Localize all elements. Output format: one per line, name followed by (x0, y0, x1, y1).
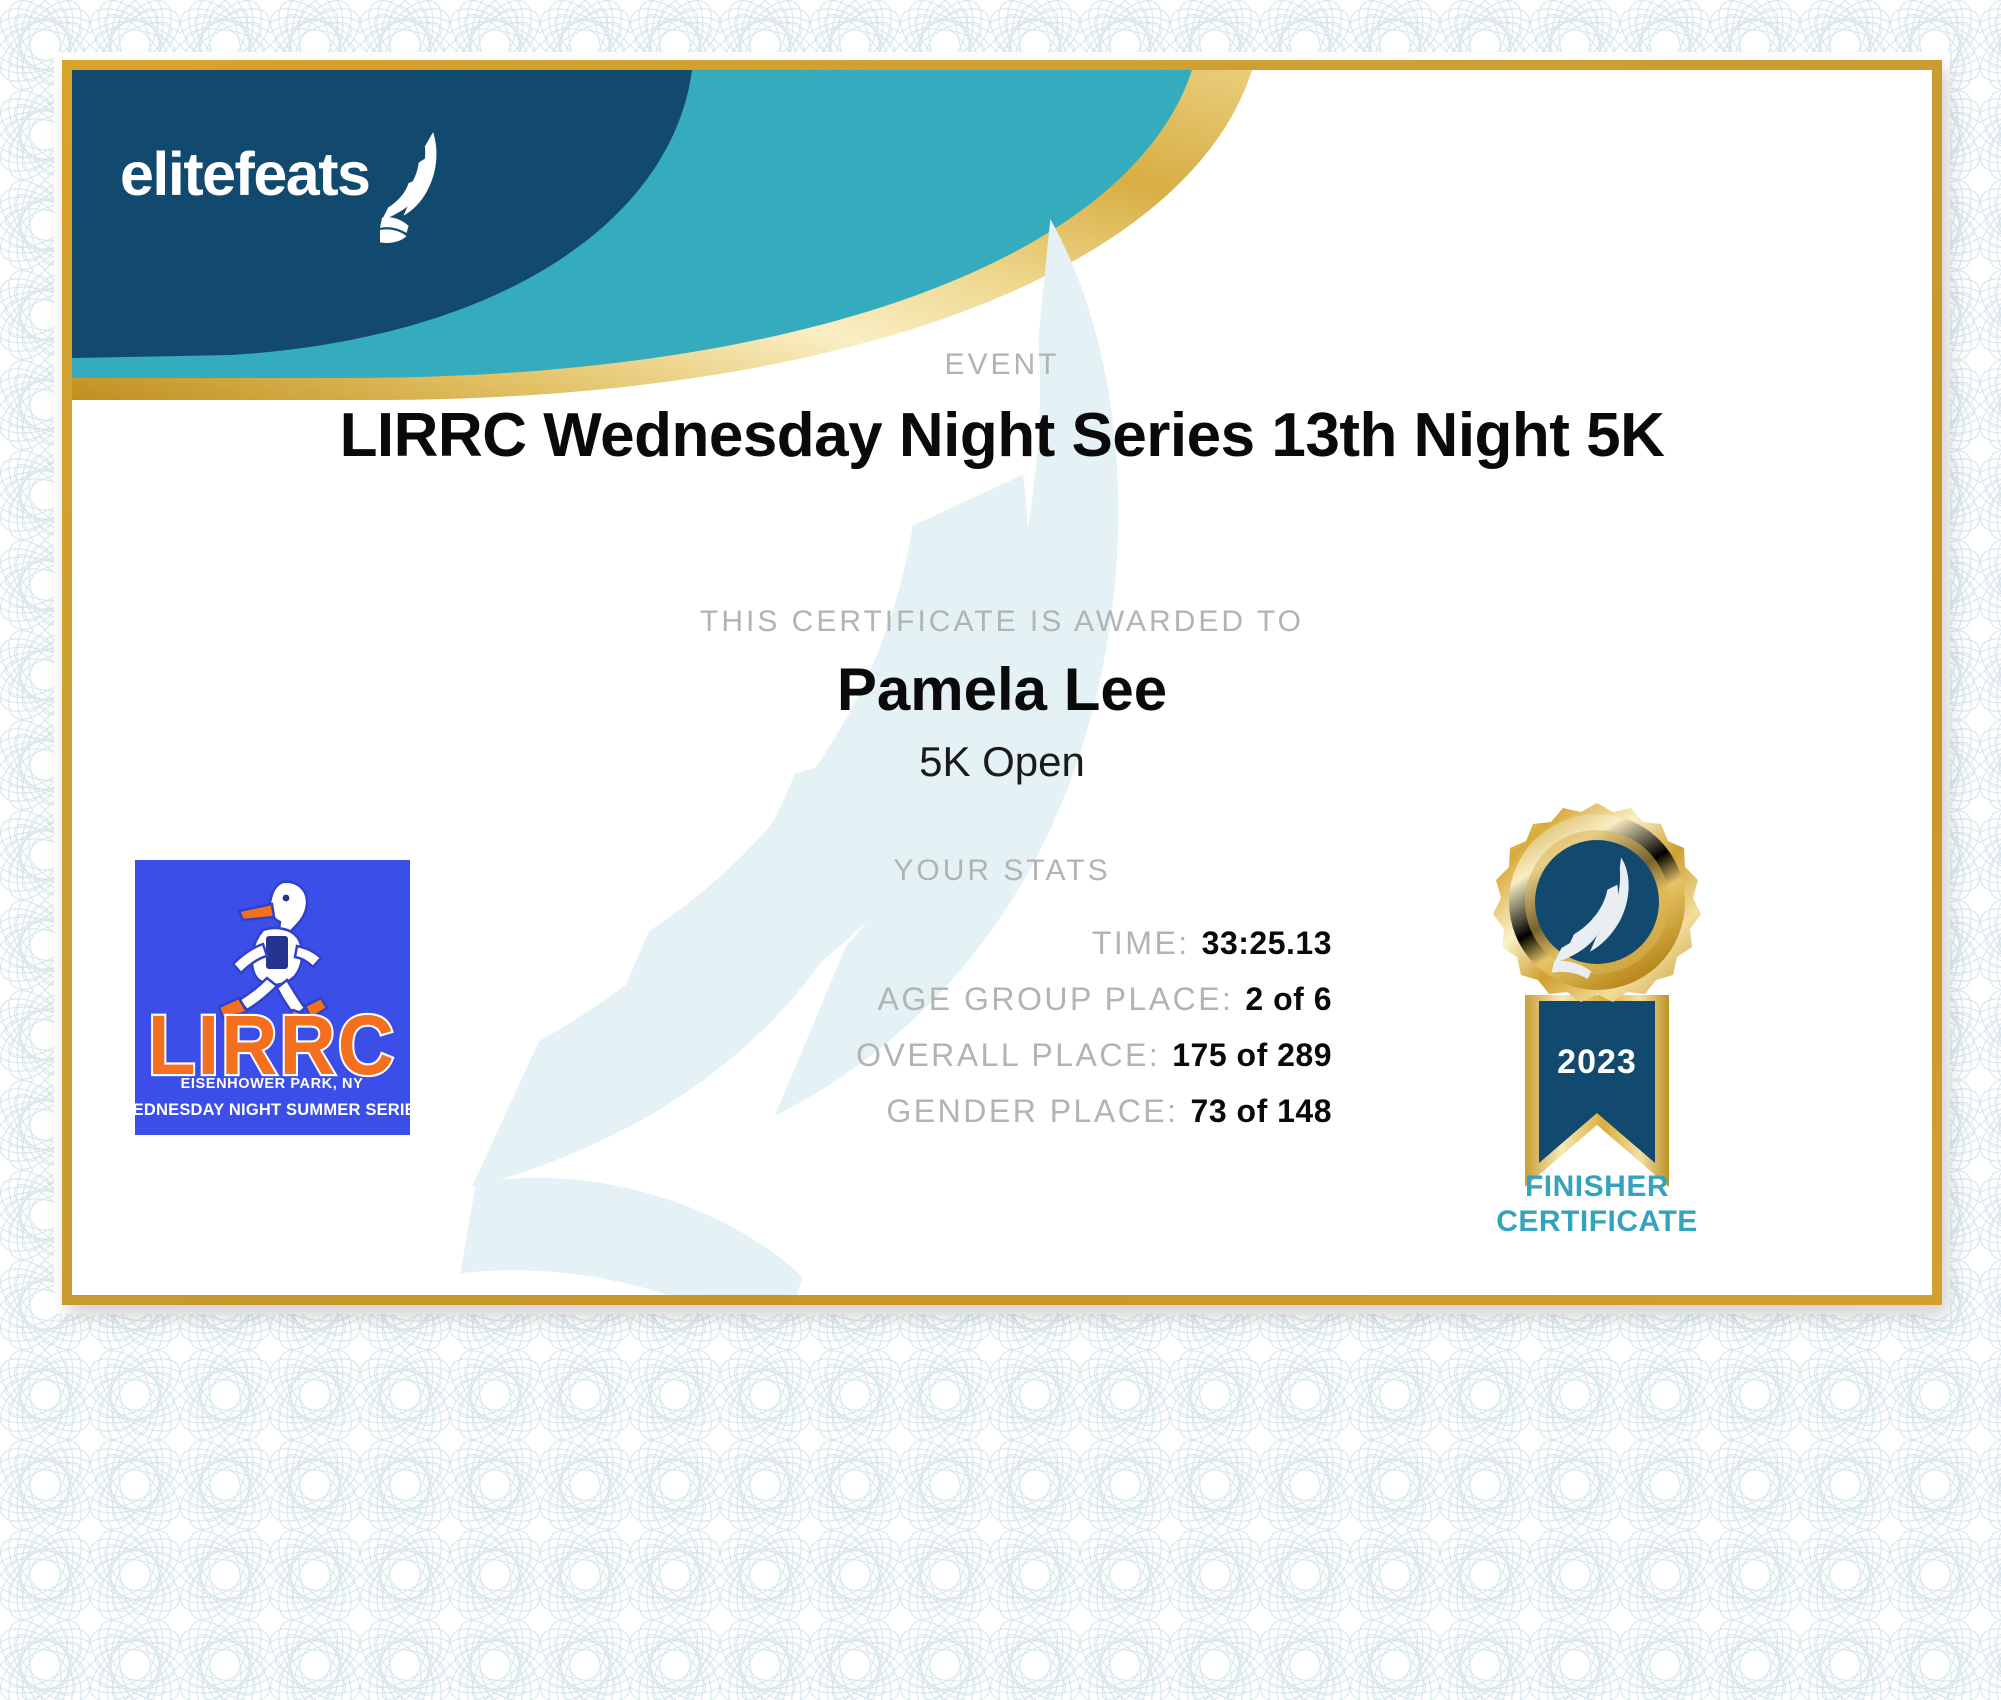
division-name: 5K Open (72, 738, 1932, 786)
stat-row: GENDER PLACE: 73 of 148 (372, 1093, 1332, 1149)
stat-label-time: TIME: (1092, 925, 1190, 962)
certificate-paper: elitefeats EVENT LIRRC Wednesday Night (72, 70, 1932, 1295)
finisher-medal: 2023 (1467, 795, 1727, 1215)
lirrc-series: WEDNESDAY NIGHT SUMMER SERIES (135, 1101, 410, 1119)
medal-caption-line2: CERTIFICATE (1496, 1205, 1698, 1238)
certificate-frame: elitefeats EVENT LIRRC Wednesday Night (62, 60, 1942, 1305)
awarded-to-label: THIS CERTIFICATE IS AWARDED TO (72, 605, 1932, 639)
stat-row: OVERALL PLACE: 175 of 289 (372, 1037, 1332, 1093)
stat-label-overall-place: OVERALL PLACE: (856, 1037, 1160, 1074)
stat-value-time: 33:25.13 (1202, 925, 1332, 962)
stat-value-age-group-place: 2 of 6 (1245, 981, 1332, 1018)
recipient-name: Pamela Lee (72, 655, 1932, 724)
lirrc-location: EISENHOWER PARK, NY (181, 1076, 364, 1092)
event-title: LIRRC Wednesday Night Series 13th Night … (72, 400, 1932, 471)
certificate-content: EVENT LIRRC Wednesday Night Series 13th … (72, 70, 1932, 1295)
stat-value-overall-place: 175 of 289 (1172, 1037, 1332, 1074)
stat-label-age-group-place: AGE GROUP PLACE: (877, 981, 1233, 1018)
stat-value-gender-place: 73 of 148 (1191, 1093, 1332, 1130)
medal-caption: FINISHER CERTIFICATE (1402, 1170, 1792, 1240)
medal-year: 2023 (1557, 1043, 1637, 1081)
stat-row: AGE GROUP PLACE: 2 of 6 (372, 981, 1332, 1037)
stat-label-gender-place: GENDER PLACE: (886, 1093, 1178, 1130)
lirrc-race-logo: LIRRC EISENHOWER PARK, NY WEDNESDAY NIGH… (135, 860, 410, 1135)
stat-row: TIME: 33:25.13 (372, 925, 1332, 981)
medal-disc (1493, 803, 1701, 1002)
stats-list: TIME: 33:25.13 AGE GROUP PLACE: 2 of 6 O… (372, 925, 1332, 1149)
event-label: EVENT (72, 348, 1932, 382)
medal-caption-line1: FINISHER (1525, 1170, 1669, 1203)
